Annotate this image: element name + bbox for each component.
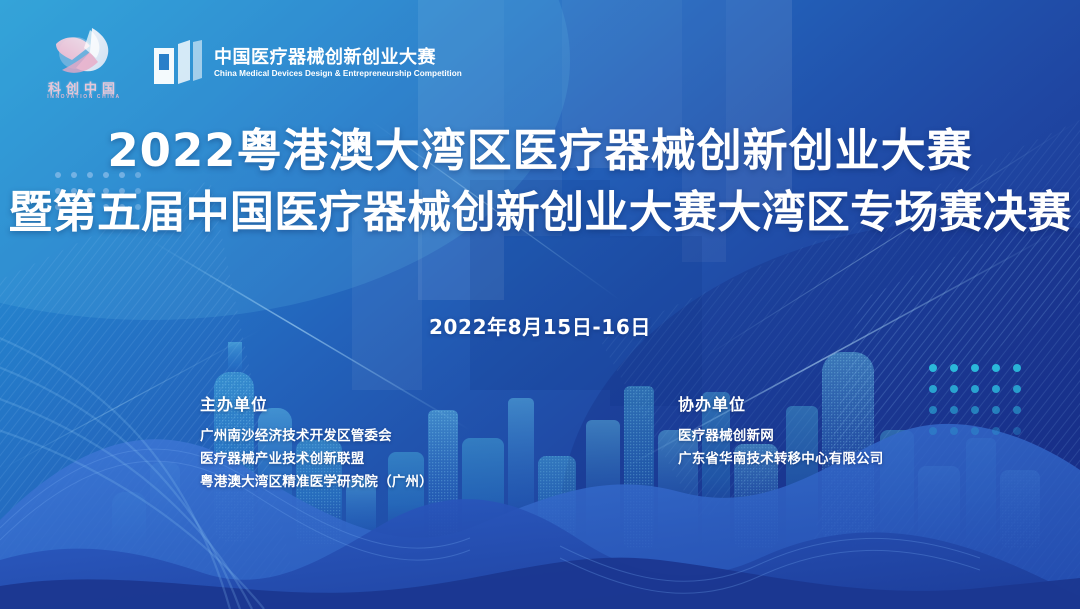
open-door-book-icon	[152, 40, 204, 86]
event-date: 2022年8月15日-16日	[0, 311, 1080, 340]
poster-canvas: 科创中国 INNOVATION CHINA 中国医疗器械创新创业大赛 China…	[0, 0, 1080, 609]
cohost-list: 医疗器械创新网 广东省华南技术转移中心有限公司	[678, 425, 884, 471]
innovation-china-bird-icon	[46, 26, 124, 78]
cohost-heading: 协办单位	[678, 391, 884, 415]
innovation-china-en: INNOVATION CHINA	[38, 95, 130, 100]
host-item: 医疗器械产业技术创新联盟	[200, 448, 433, 471]
competition-title-en: China Medical Devices Design & Entrepren…	[214, 69, 462, 78]
title-line-1: 2022粤港澳大湾区医疗器械创新创业大赛	[0, 126, 1080, 176]
main-title-block: 2022粤港澳大湾区医疗器械创新创业大赛 暨第五届中国医疗器械创新创业大赛大湾区…	[0, 126, 1080, 238]
dot-grid-right	[929, 364, 1021, 435]
host-item: 粤港澳大湾区精准医学研究院（广州）	[200, 471, 433, 494]
host-list: 广州南沙经济技术开发区管委会 医疗器械产业技术创新联盟 粤港澳大湾区精准医学研究…	[200, 425, 433, 495]
title-line-2: 暨第五届中国医疗器械创新创业大赛大湾区专场赛决赛	[0, 188, 1080, 237]
header-logos: 科创中国 INNOVATION CHINA 中国医疗器械创新创业大赛 China…	[38, 26, 462, 100]
host-organizer-block: 主办单位 广州南沙经济技术开发区管委会 医疗器械产业技术创新联盟 粤港澳大湾区精…	[200, 391, 433, 495]
cohost-item: 医疗器械创新网	[678, 425, 884, 448]
logo-innovation-china[interactable]: 科创中国 INNOVATION CHINA	[38, 26, 130, 100]
cohost-item: 广东省华南技术转移中心有限公司	[678, 448, 884, 471]
logo-competition[interactable]: 中国医疗器械创新创业大赛 China Medical Devices Desig…	[152, 40, 462, 86]
competition-title-zh: 中国医疗器械创新创业大赛	[214, 48, 462, 68]
cohost-organizer-block: 协办单位 医疗器械创新网 广东省华南技术转移中心有限公司	[678, 391, 884, 471]
host-item: 广州南沙经济技术开发区管委会	[200, 425, 433, 448]
host-heading: 主办单位	[200, 391, 433, 415]
wave-group	[0, 424, 1080, 609]
